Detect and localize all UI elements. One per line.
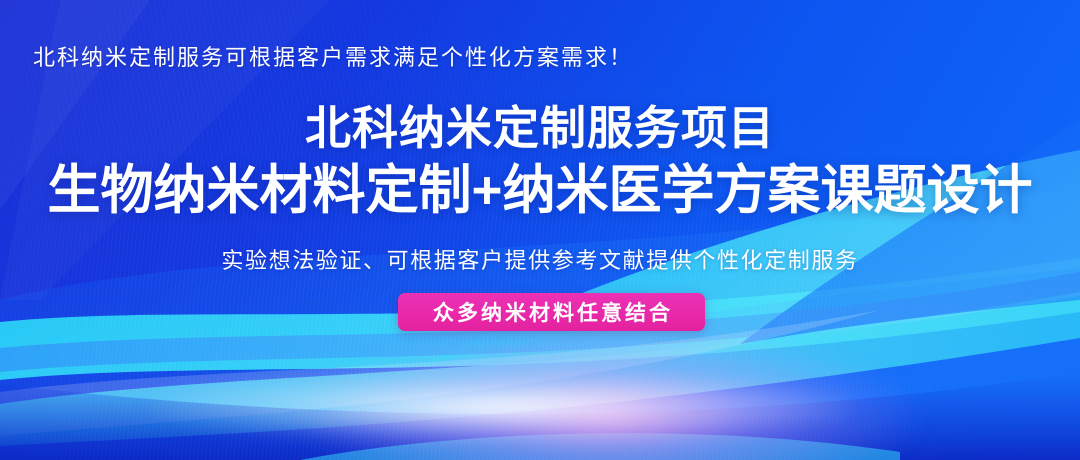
banner-kicker-text: 北科纳米定制服务可根据客户需求满足个性化方案需求！ xyxy=(33,40,633,72)
promo-banner: 北科纳米定制服务可根据客户需求满足个性化方案需求！ 北科纳米定制服务项目 生物纳… xyxy=(0,0,1080,460)
highlight-badge[interactable]: 众多纳米材料任意结合 xyxy=(398,293,705,331)
banner-subtitle: 实验想法验证、可根据客户提供参考文献提供个性化定制服务 xyxy=(0,243,1080,275)
highlight-badge-label: 众多纳米材料任意结合 xyxy=(430,297,673,327)
banner-title: 北科纳米定制服务项目 生物纳米材料定制+纳米医学方案课题设计 xyxy=(0,104,1080,219)
banner-title-line-2: 生物纳米材料定制+纳米医学方案课题设计 xyxy=(0,162,1080,219)
banner-title-line-1: 北科纳米定制服务项目 xyxy=(0,104,1080,154)
banner-content: 北科纳米定制服务可根据客户需求满足个性化方案需求！ 北科纳米定制服务项目 生物纳… xyxy=(0,0,1080,460)
